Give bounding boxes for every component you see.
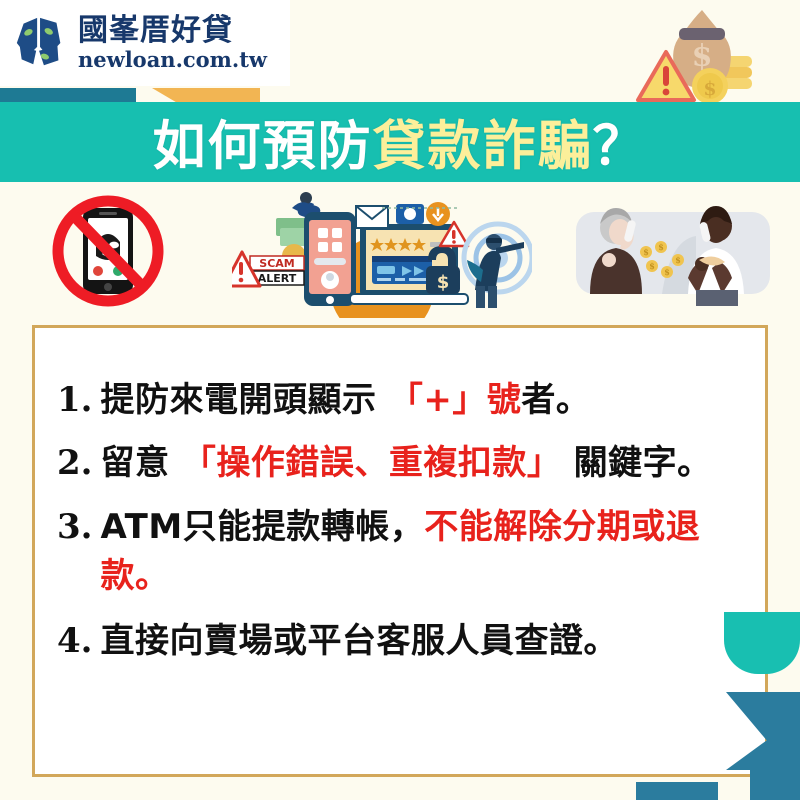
poster-root: 國峯厝好貸 newloan.com.tw $ $ 如何預防貸款詐騙？ [0, 0, 800, 800]
tip-number-2: 2. [57, 439, 93, 488]
svg-text:ALERT: ALERT [258, 272, 297, 285]
blue-bottom-decoration-1 [750, 764, 800, 800]
tip-1-seg-3: 者。 [521, 380, 590, 420]
tip-1-seg-1: 提防來電開頭顯示 [101, 380, 389, 420]
tip-number-1: 1. [57, 376, 93, 425]
tip-1-seg-2: 「+」號 [389, 380, 522, 420]
tip-number-3: 3. [57, 503, 93, 552]
svg-text:$: $ [703, 78, 716, 100]
svg-text:SCAM: SCAM [259, 257, 294, 270]
tip-text-4: 直接向賣場或平台客服人員查證。 [101, 617, 619, 666]
scam-alert-scene-icon: SCAM ALERT [232, 186, 532, 318]
tip-text-3: ATM只能提款轉帳，不能解除分期或退款。 [101, 503, 748, 602]
orange-tab-decoration [152, 88, 260, 102]
svg-text:$: $ [437, 272, 450, 293]
tip-2-seg-3: 關鍵字。 [561, 443, 711, 483]
tip-item-4: 4. 直接向賣場或平台客服人員查證。 [57, 617, 747, 666]
tip-2-seg-2: 「操作錯誤、重複扣款」 [182, 443, 562, 483]
tip-2-seg-1: 留意 [101, 443, 182, 483]
title-part-1: 如何預防 [153, 116, 373, 177]
svg-text:$: $ [675, 255, 681, 265]
brand-logo: 國峯厝好貸 newloan.com.tw [0, 0, 290, 86]
blue-bottom-decoration-2 [636, 782, 718, 800]
tips-card: 1. 提防來電開頭顯示 「+」號者。 2. 留意 「操作錯誤、重複扣款」 關鍵字… [32, 325, 768, 777]
tip-text-1: 提防來電開頭顯示 「+」號者。 [101, 376, 591, 425]
svg-text:$: $ [664, 267, 670, 277]
teal-bar-decoration [0, 88, 136, 102]
tip-3-seg-1: ATM只能提款轉帳， [101, 507, 425, 547]
tip-text-2: 留意 「操作錯誤、重複扣款」 關鍵字。 [101, 439, 712, 488]
title-banner: 如何預防貸款詐騙？ [0, 102, 800, 182]
tip-4-seg-1: 直接向賣場或平台客服人員查證。 [101, 621, 619, 661]
shield-leaf-logo-icon [12, 14, 70, 72]
tip-item-1: 1. 提防來電開頭顯示 「+」號者。 [57, 376, 747, 425]
svg-text:$: $ [643, 247, 649, 257]
phone-fraud-people-icon: $ $ $ $ $ [566, 194, 780, 306]
tip-number-4: 4. [57, 617, 93, 666]
page-title: 如何預防貸款詐騙？ [153, 104, 648, 180]
tip-item-3: 3. ATM只能提款轉帳，不能解除分期或退款。 [57, 503, 747, 602]
svg-text:$: $ [649, 261, 655, 271]
brand-website: newloan.com.tw [78, 49, 267, 70]
illustration-row: SCAM ALERT [0, 186, 800, 318]
title-part-highlight: 貸款詐騙 [373, 116, 593, 177]
brand-name: 國峯厝好貸 [78, 16, 267, 46]
teal-corner-decoration [724, 612, 800, 674]
tip-item-2: 2. 留意 「操作錯誤、重複扣款」 關鍵字。 [57, 439, 747, 488]
tip-3-seg-3: 。 [135, 556, 170, 596]
no-scam-call-icon [52, 192, 164, 310]
title-part-2: ？ [593, 116, 648, 177]
svg-text:$: $ [658, 242, 664, 252]
money-bag-with-warning-icon: $ $ [632, 4, 772, 106]
